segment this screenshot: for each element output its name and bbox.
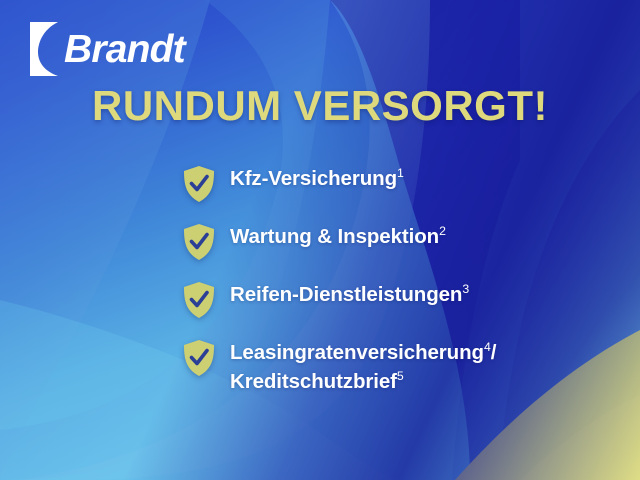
shield-check-icon [182, 223, 216, 261]
shield-check-icon [182, 339, 216, 377]
feature-label-1: Kfz-Versicherung1 [230, 164, 404, 193]
list-item: Wartung & Inspektion2 [182, 222, 496, 261]
feature-label-2: Wartung & Inspektion2 [230, 222, 446, 251]
list-item: Kfz-Versicherung1 [182, 164, 496, 203]
promo-banner: Brandt RUNDUM VERSORGT! Kfz-Versicherung… [0, 0, 640, 480]
page-title: RUNDUM VERSORGT! [0, 84, 640, 128]
feature-label-4: Leasingratenversicherung4/Kreditschutzbr… [230, 338, 496, 396]
feature-list: Kfz-Versicherung1 Wartung & Inspektion2 … [182, 164, 496, 396]
feature-label-3: Reifen-Dienstleistungen3 [230, 280, 469, 309]
list-item: Leasingratenversicherung4/Kreditschutzbr… [182, 338, 496, 396]
brand-logo[interactable]: Brandt [28, 22, 185, 76]
list-item: Reifen-Dienstleistungen3 [182, 280, 496, 319]
brandt-bracket-mark-icon [28, 22, 60, 76]
shield-check-icon [182, 165, 216, 203]
brand-name: Brandt [64, 30, 185, 69]
shield-check-icon [182, 281, 216, 319]
